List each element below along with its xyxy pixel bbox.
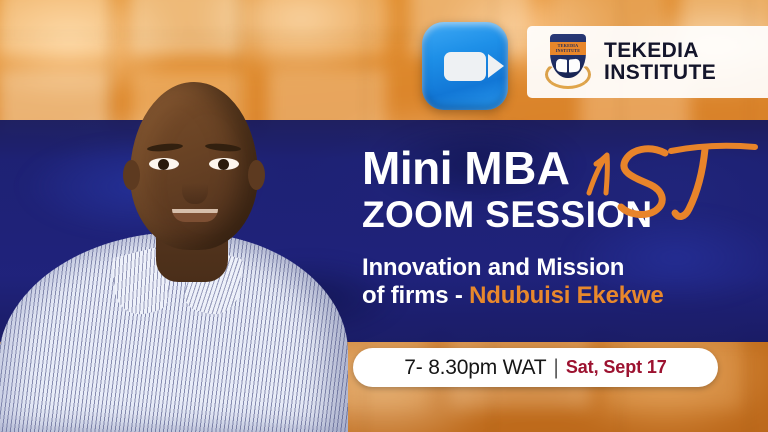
topic-line-1: Innovation and Mission (362, 254, 762, 282)
schedule-time: 7- 8.30pm WAT (404, 356, 546, 380)
nose (182, 174, 208, 204)
mouth (172, 209, 218, 222)
logo-line-2: INSTITUTE (604, 62, 716, 84)
crest-banner-line2: INSTITUTE (556, 49, 581, 53)
speaker-name: Ndubuisi Ekekwe (469, 282, 663, 309)
topic-line-2: of firms - Ndubuisi Ekekwe (362, 282, 762, 310)
session-topic: Innovation and Mission of firms - Ndubui… (362, 254, 762, 310)
tekedia-crest-icon: TEKEDIA INSTITUTE (545, 34, 591, 90)
head (130, 82, 258, 250)
schedule-separator: | (553, 356, 558, 380)
tekedia-institute-logo: TEKEDIA INSTITUTE TEKEDIA INSTITUTE (527, 26, 768, 98)
webinar-promo-poster: TEKEDIA INSTITUTE TEKEDIA INSTITUTE Mini… (0, 0, 768, 432)
eye-right (209, 158, 239, 170)
crest-banner: TEKEDIA INSTITUTE (550, 42, 586, 55)
topic-dash: - (448, 282, 469, 309)
eyebrow-right (205, 142, 241, 152)
schedule-date: Sat, Sept 17 (566, 357, 667, 378)
headline-line-1: Mini MBA (362, 143, 762, 193)
eye-left (149, 158, 179, 170)
eyebrow-left (147, 142, 183, 152)
speaker-photo (18, 32, 348, 432)
ear-right (248, 160, 265, 190)
video-camera-icon (444, 52, 486, 81)
topic-line-2-prefix: of firms (362, 282, 448, 309)
headline-block: Mini MBA ZOOM SESSION (362, 143, 762, 235)
logo-line-1: TEKEDIA (604, 40, 716, 62)
logo-wordmark: TEKEDIA INSTITUTE (604, 40, 716, 85)
headline-mini: Mini (362, 142, 464, 194)
schedule-banner: 7- 8.30pm WAT | Sat, Sept 17 (353, 348, 718, 387)
headline-line-2: ZOOM SESSION (362, 195, 762, 235)
zoom-video-icon (422, 22, 508, 110)
ear-left (123, 160, 140, 190)
headline-mba: MBA (464, 142, 570, 194)
